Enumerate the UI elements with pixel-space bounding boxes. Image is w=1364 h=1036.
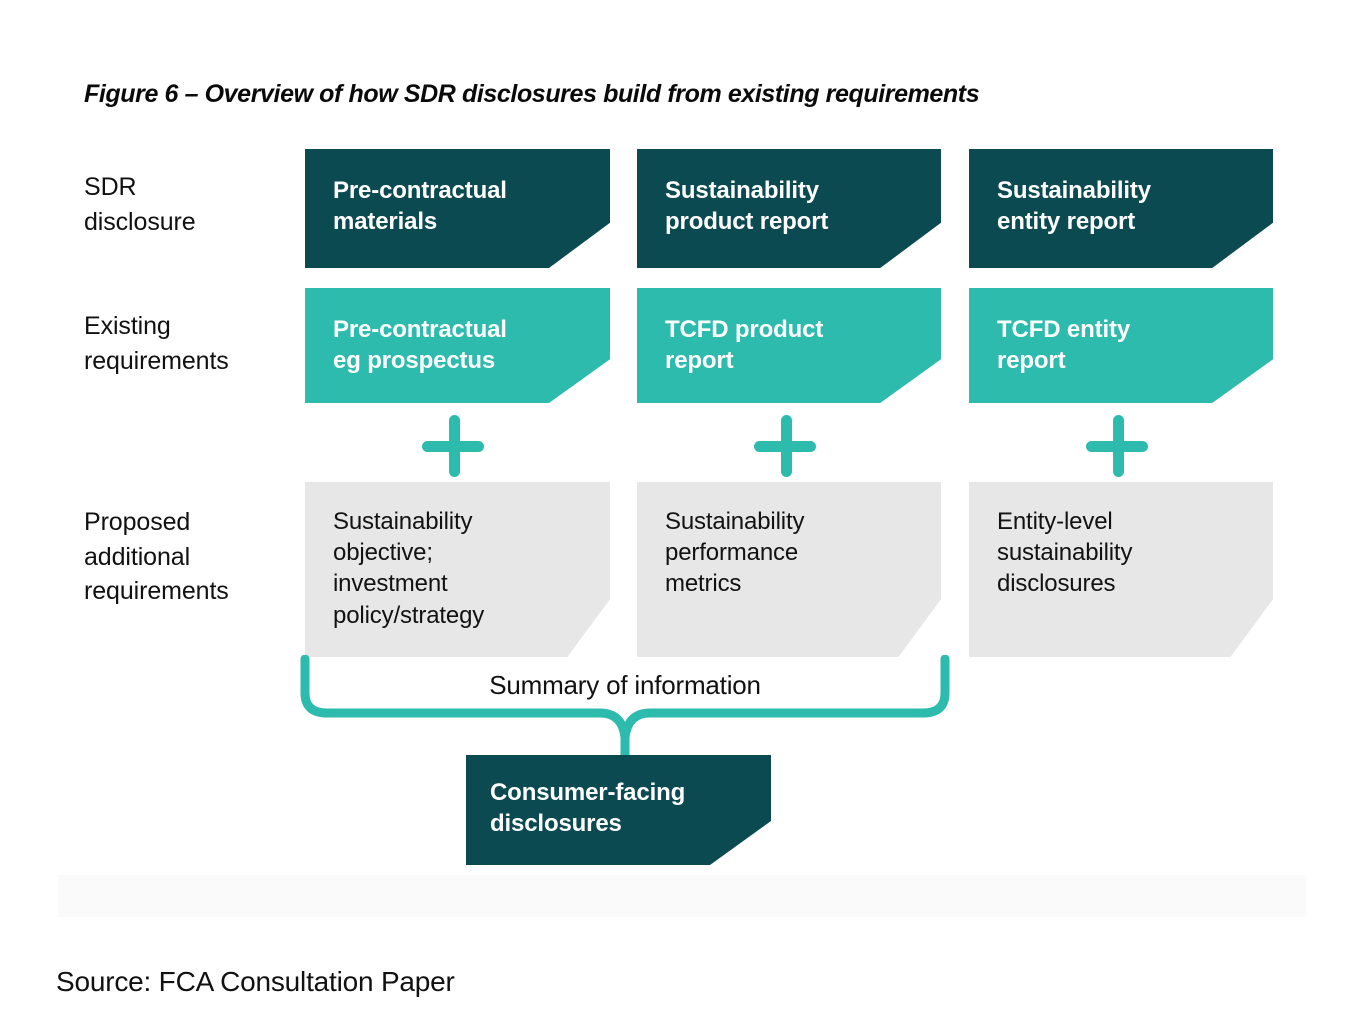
figure-canvas: SDR disclosure Existing requirements Pro… (0, 130, 1364, 920)
box-pre-contractual-prospectus[interactable]: Pre-contractual eg prospectus (305, 288, 610, 403)
row-label-existing-requirements: Existing requirements (84, 309, 299, 378)
box-label: Pre-contractual materials (333, 175, 564, 237)
figure-base-band (58, 875, 1306, 917)
box-label: Sustainability product report (665, 175, 895, 237)
box-sustainability-objective[interactable]: Sustainability objective; investment pol… (305, 482, 610, 657)
plus-icon (422, 415, 484, 477)
box-label: Sustainability objective; investment pol… (333, 506, 564, 631)
box-consumer-facing-disclosures[interactable]: Consumer-facing disclosures (466, 755, 771, 865)
box-tcfd-entity-report[interactable]: TCFD entity report (969, 288, 1273, 403)
box-label: Entity-level sustainability disclosures (997, 506, 1227, 600)
plus-icon (754, 415, 816, 477)
row-label-sdr-disclosure: SDR disclosure (84, 170, 299, 239)
box-sustainability-entity-report[interactable]: Sustainability entity report (969, 149, 1273, 268)
box-label: TCFD entity report (997, 314, 1227, 376)
box-label: Consumer-facing disclosures (490, 777, 727, 839)
box-label: Sustainability performance metrics (665, 506, 895, 600)
box-label: Sustainability entity report (997, 175, 1227, 237)
figure-title: Figure 6 – Overview of how SDR disclosur… (84, 80, 1264, 109)
box-label: Pre-contractual eg prospectus (333, 314, 564, 376)
box-label: TCFD product report (665, 314, 895, 376)
box-entity-level-disclosures[interactable]: Entity-level sustainability disclosures (969, 482, 1273, 657)
box-sustainability-product-report[interactable]: Sustainability product report (637, 149, 941, 268)
summary-of-information-label: Summary of information (355, 670, 895, 701)
row-label-proposed-additional-requirements: Proposed additional requirements (84, 505, 299, 609)
plus-icon (1086, 415, 1148, 477)
box-tcfd-product-report[interactable]: TCFD product report (637, 288, 941, 403)
box-sustainability-performance-metrics[interactable]: Sustainability performance metrics (637, 482, 941, 657)
box-pre-contractual-materials[interactable]: Pre-contractual materials (305, 149, 610, 268)
source-caption: Source: FCA Consultation Paper (56, 966, 455, 998)
